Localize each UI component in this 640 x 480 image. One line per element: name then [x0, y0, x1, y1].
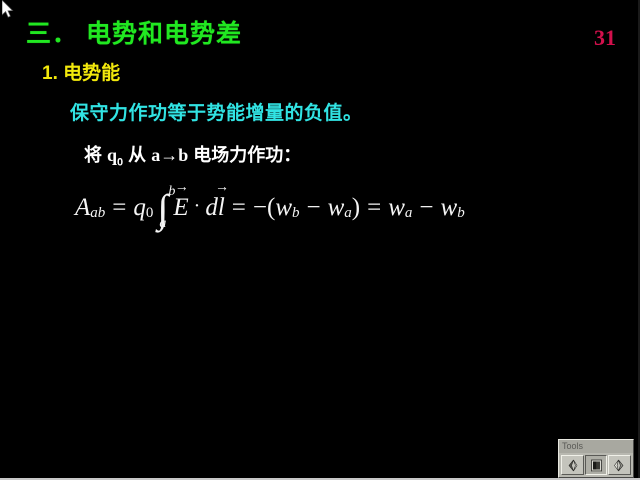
eq-lhs-symbol: A: [75, 194, 90, 222]
eq-paren-open: (: [267, 194, 275, 222]
integral-lower-limit: a: [159, 216, 166, 232]
eq-length-vector: l: [218, 194, 225, 222]
slide-title: 三． 电势和电势差: [26, 22, 242, 47]
sub-line-statement: 保守力作功等于势能增量的负值。: [70, 104, 363, 123]
setup-point-to: b: [178, 145, 188, 165]
equation-work-potential-energy: Aab = q0 ∫ b a E · dl = −(wb − wa) = wa …: [75, 188, 465, 228]
eq-w-b2-subscript: b: [457, 205, 465, 222]
setup-lead: 将: [84, 145, 102, 165]
right-arrow-pen-icon: [613, 459, 626, 472]
eq-minus-3: −: [419, 194, 433, 222]
eq-charge-subscript: 0: [146, 205, 154, 222]
eq-w-a2-subscript: a: [405, 205, 413, 222]
eq-lhs-subscript: ab: [90, 205, 105, 222]
eq-minus-2: −: [307, 194, 321, 222]
setup-tail: 电场力作功：: [193, 145, 301, 165]
eq-w-a2-symbol: w: [388, 194, 405, 222]
sub-line-setup: 将 q0 从 a→b 电场力作功：: [84, 146, 301, 169]
eq-integral: ∫ b a: [157, 188, 171, 228]
next-slide-pen-button[interactable]: [608, 455, 631, 475]
eq-equals-3: =: [367, 194, 381, 222]
setup-middle: 从: [128, 145, 146, 165]
left-arrow-pen-icon: [566, 459, 579, 472]
eq-paren-close: ): [352, 194, 360, 222]
eq-charge-symbol: q: [133, 194, 146, 222]
setup-point-from: a: [151, 145, 160, 165]
eq-w-a-subscript: a: [344, 205, 352, 222]
eq-equals-1: =: [112, 194, 126, 222]
eq-equals-2: =: [232, 194, 246, 222]
setup-arrow-icon: →: [160, 145, 178, 165]
eq-minus-1: −: [253, 194, 267, 222]
tools-button-row: [559, 453, 633, 477]
page-number: 31: [594, 25, 616, 51]
tools-palette[interactable]: Tools: [558, 439, 634, 478]
eq-field-vector: E: [173, 194, 188, 222]
eq-differential-d: d: [205, 194, 218, 222]
tools-palette-titlebar[interactable]: Tools: [559, 440, 633, 453]
eq-dot-operator: ·: [194, 195, 201, 218]
eq-w-b-symbol: w: [275, 194, 292, 222]
setup-charge-symbol: q: [107, 145, 117, 165]
eq-w-b-subscript: b: [292, 205, 300, 222]
eq-w-a-symbol: w: [328, 194, 345, 222]
presentation-slide: 三． 电势和电势差 31 1. 电势能 保守力作功等于势能增量的负值。 将 q0…: [0, 0, 640, 480]
pen-screen-icon: [590, 459, 603, 472]
eq-w-b2-symbol: w: [441, 194, 458, 222]
pen-tool-button[interactable]: [585, 455, 608, 475]
bullet-item-1: 1. 电势能: [42, 64, 120, 83]
mouse-pointer-icon: [2, 0, 16, 20]
previous-slide-pen-button[interactable]: [561, 455, 584, 475]
tools-palette-title: Tools: [562, 442, 583, 451]
setup-charge-subscript: 0: [117, 157, 123, 169]
